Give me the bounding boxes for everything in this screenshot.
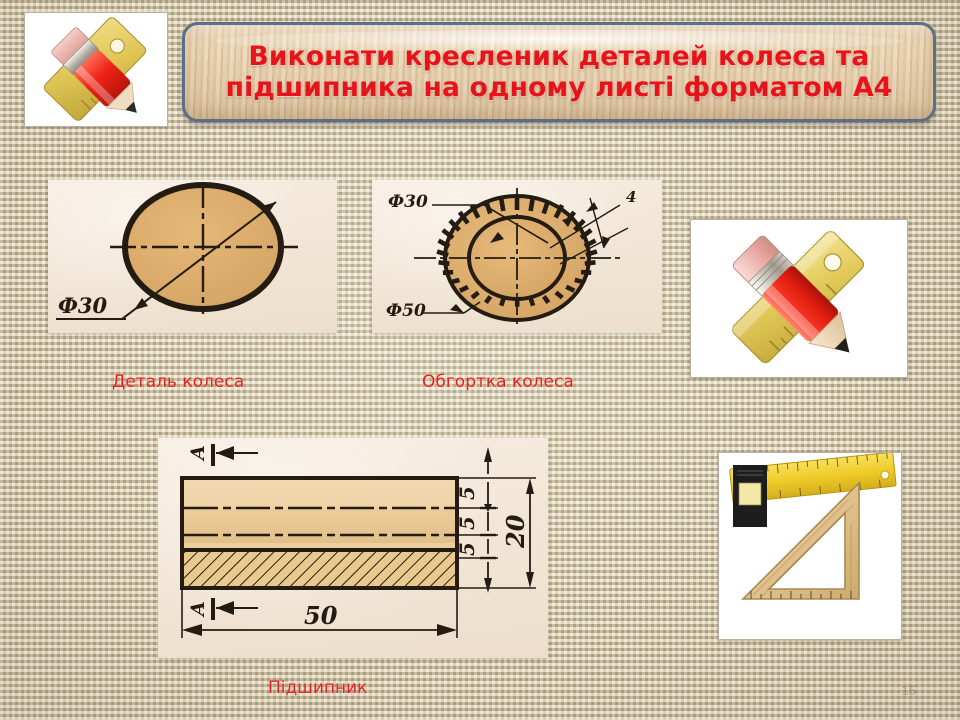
pencil-ruler-icon-card-small [24,12,168,127]
dimension-label-tooth-width: 4 [626,188,636,206]
caption-wheel-wrapper: Обгортка колеса [422,374,574,391]
dimension-label-d30: Ф30 [58,293,108,318]
drawing-wheel-part: Ф30 [48,180,337,333]
dimension-label-layer1: 5 [455,486,479,500]
page-title: Виконати кресленик деталей колеса та під… [212,41,907,104]
drawing-wheel-wrapper: Ф30 Ф50 4 [372,180,662,333]
dimension-label-outer-d50: Ф50 [386,301,426,321]
title-banner: Виконати кресленик деталей колеса та під… [182,22,936,122]
page-number: 15 [902,683,916,698]
dimension-label-length-50: 50 [304,601,338,630]
section-mark-a-bottom: A [187,601,209,618]
drawing-bearing: A A 5 [158,438,548,658]
pencil-ruler-icon-card-large [690,219,908,378]
pencil-ruler-icon [691,220,905,375]
triangle-ruler-icon [719,453,899,637]
dimension-label-inner-d30: Ф30 [388,192,428,212]
triangle-ruler-icon-card [718,452,902,640]
dimension-label-layer3: 5 [455,542,479,556]
section-mark-a-top: A [187,445,209,462]
caption-wheel-part: Деталь колеса [112,374,244,391]
dimension-label-height-20: 20 [501,514,530,549]
pencil-ruler-icon [25,13,165,124]
caption-bearing: Підшипник [268,680,367,697]
dimension-label-layer2: 5 [455,516,479,530]
